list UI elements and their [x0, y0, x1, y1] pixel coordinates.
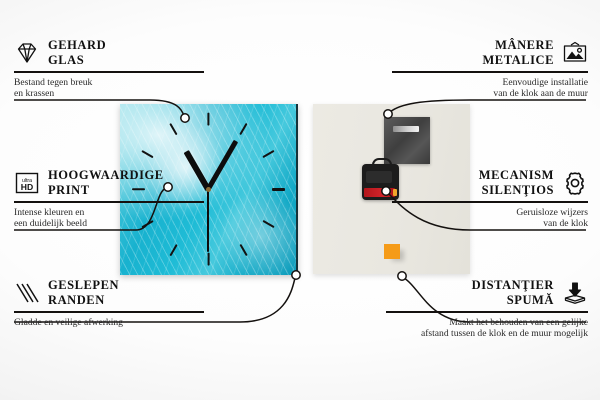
second-hand	[207, 190, 209, 252]
minute-hand	[206, 140, 238, 191]
feature-title: MÂNERE METALICE	[482, 38, 554, 68]
feature-header: DISTANŢIER SPUMĂ	[386, 278, 588, 308]
feature-manere-metalice: MÂNERE METALICE Eenvoudige installatie v…	[392, 38, 588, 100]
feature-title: DISTANŢIER SPUMĂ	[472, 278, 554, 308]
divider	[392, 201, 588, 203]
hands-center-cap	[206, 187, 211, 192]
feature-title: HOOGWAARDIGE PRINT	[48, 168, 164, 198]
feature-header: ultra HD HOOGWAARDIGE PRINT	[14, 168, 204, 198]
ultra-hd-icon: ultra HD	[14, 171, 40, 195]
arrow-down-layers-icon	[562, 281, 588, 305]
divider	[392, 71, 588, 73]
diamond-icon	[14, 41, 40, 65]
feature-subtitle: Eenvoudige installatie van de klok aan d…	[392, 77, 588, 100]
feature-subtitle: Maakt het behouden van een gelijke afsta…	[386, 317, 588, 340]
foam-spacer	[384, 244, 400, 259]
feature-gehard-glas: GEHARD GLAS Bestand tegen breuk en krass…	[14, 38, 204, 100]
feature-subtitle: Intense kleuren en een duidelijk beeld	[14, 207, 204, 230]
feature-header: GESLEPEN RANDEN	[14, 278, 204, 308]
diagonal-lines-icon	[14, 281, 40, 305]
feature-title: GEHARD GLAS	[48, 38, 106, 68]
metal-hanger-plate	[384, 117, 430, 164]
hanger-slot	[393, 126, 419, 132]
picture-frame-hanger-icon	[562, 41, 588, 65]
feature-subtitle: Bestand tegen breuk en krassen	[14, 77, 204, 100]
feature-title: MECANISM SILENŢIOS	[479, 168, 554, 198]
svg-text:HD: HD	[21, 182, 33, 192]
feature-hoogwaardige-print: ultra HD HOOGWAARDIGE PRINT Intense kleu…	[14, 168, 204, 230]
mechanism-hook	[372, 158, 392, 169]
battery	[364, 188, 395, 197]
divider	[386, 311, 588, 313]
feature-mecanism-silentios: MECANISM SILENŢIOS Geruisloze wijzers va…	[392, 168, 588, 230]
feature-header: MECANISM SILENŢIOS	[392, 168, 588, 198]
divider	[14, 201, 204, 203]
mechanism-face	[366, 171, 392, 183]
feature-subtitle: Gladde en veilige afwerking	[14, 317, 204, 329]
feature-header: MÂNERE METALICE	[392, 38, 588, 68]
feature-subtitle: Geruisloze wijzers van de klok	[392, 207, 588, 230]
feature-title: GESLEPEN RANDEN	[48, 278, 119, 308]
feature-geslepen-randen: GESLEPEN RANDEN Gladde en veilige afwerk…	[14, 278, 204, 328]
divider	[14, 71, 204, 73]
gear-icon	[562, 171, 588, 195]
infographic-canvas: GEHARD GLAS Bestand tegen breuk en krass…	[0, 0, 600, 400]
feature-header: GEHARD GLAS	[14, 38, 204, 68]
feature-distantier-spuma: DISTANŢIER SPUMĂ Maakt het behouden van …	[386, 278, 588, 340]
divider	[14, 311, 204, 313]
